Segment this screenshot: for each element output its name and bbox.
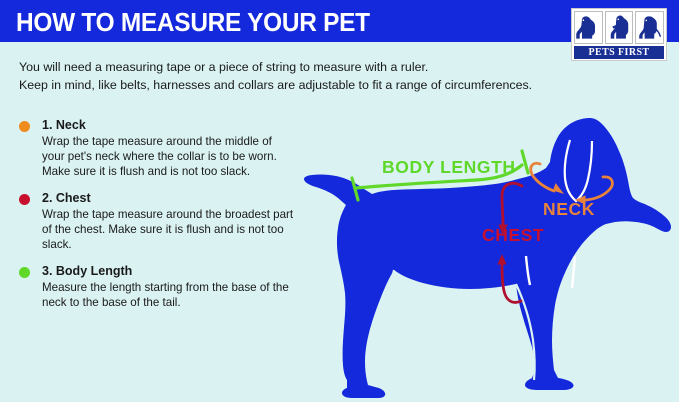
infographic-page: HOW TO MEASURE YOUR PET (0, 0, 679, 402)
bullet-body-length-icon (19, 267, 30, 278)
brand-logo: PETS FIRST (571, 8, 667, 61)
logo-icon-row (574, 11, 664, 44)
dog-diagram: BODY LENGTH CHEST NECK (290, 108, 679, 402)
step-body-neck: Wrap the tape measure around the middle … (42, 134, 297, 179)
begging-dog-icon (605, 11, 634, 44)
step-title-chest: 2. Chest (42, 191, 297, 206)
bullet-neck-icon (19, 121, 30, 132)
sitting-dog-icon (574, 11, 603, 44)
step-body-chest: Wrap the tape measure around the broades… (42, 207, 297, 252)
step-body-body-length: Measure the length starting from the bas… (42, 280, 297, 310)
step-title-body-length: 3. Body Length (42, 264, 297, 279)
measurement-steps-list: 1. Neck Wrap the tape measure around the… (19, 118, 297, 322)
step-item-neck: 1. Neck Wrap the tape measure around the… (19, 118, 297, 179)
step-item-chest: 2. Chest Wrap the tape measure around th… (19, 191, 297, 252)
standing-dog-icon (635, 11, 664, 44)
step-title-neck: 1. Neck (42, 118, 297, 133)
intro-text: You will need a measuring tape or a piec… (19, 58, 619, 94)
intro-line-1: You will need a measuring tape or a piec… (19, 58, 619, 76)
label-chest: CHEST (482, 225, 544, 245)
intro-line-2: Keep in mind, like belts, harnesses and … (19, 76, 619, 94)
page-title: HOW TO MEASURE YOUR PET (16, 7, 370, 38)
label-neck: NECK (543, 199, 595, 219)
bullet-chest-icon (19, 194, 30, 205)
step-item-body-length: 3. Body Length Measure the length starti… (19, 264, 297, 310)
label-body-length: BODY LENGTH (382, 157, 516, 177)
